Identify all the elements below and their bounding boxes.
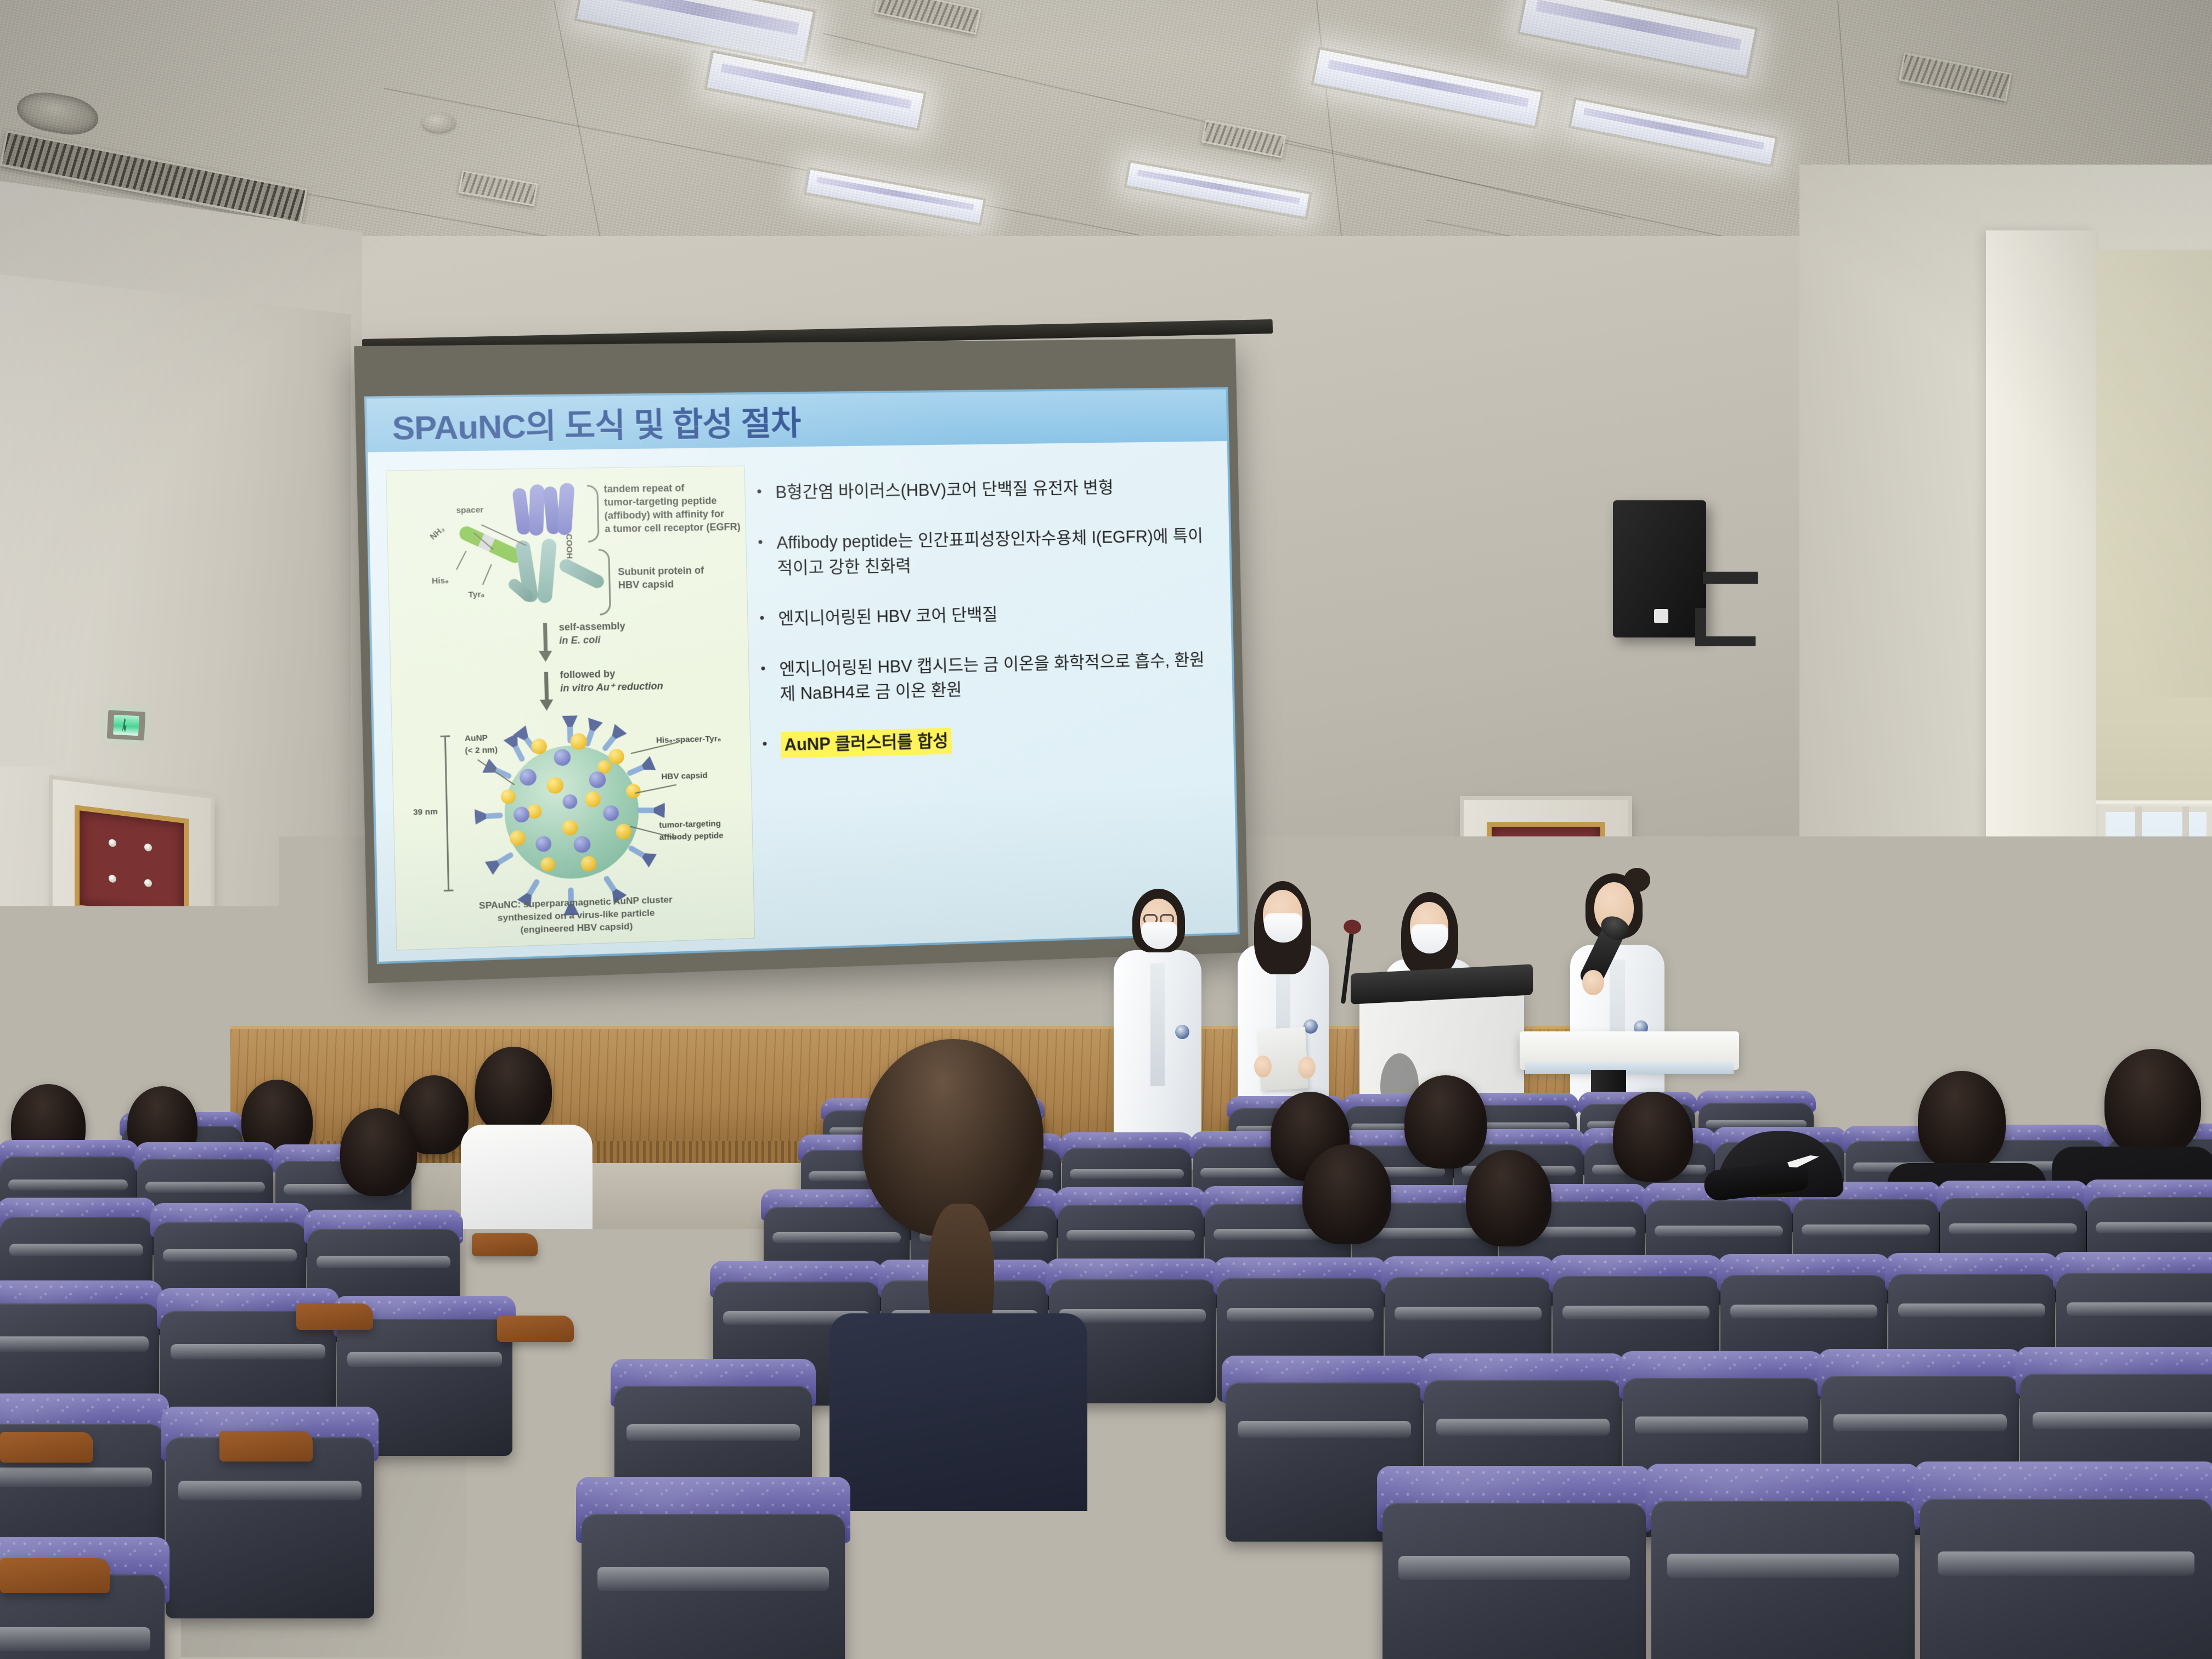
diagram-label-tumor-peptide-1: tumor-targeting <box>659 819 721 831</box>
diagram-label-tandem-repeat-3: (affibody) with affinity for <box>605 508 725 522</box>
ceiling-air-vent <box>458 170 538 206</box>
seat[interactable] <box>614 1602 1339 1659</box>
seat[interactable] <box>1383 1503 1646 1659</box>
diagram-label-his-spacer-tyr: His₆-spacer-Tyr₆ <box>656 734 721 746</box>
speaker-mount-bracket <box>1695 608 1756 646</box>
audience-head <box>1302 1144 1391 1244</box>
audience-shoulders <box>461 1125 592 1229</box>
slide-title: SPAuNC의 도식 및 합성 절차 <box>392 397 801 450</box>
bullet-marker: • <box>759 606 768 631</box>
seat-armrest <box>219 1431 313 1462</box>
seat-armrest <box>296 1304 373 1330</box>
audience-head <box>1466 1150 1551 1246</box>
audience-head <box>1404 1075 1487 1169</box>
door-handle[interactable] <box>160 925 174 962</box>
seat-armrest <box>0 1558 110 1593</box>
door-upper-left[interactable] <box>53 779 211 1045</box>
slide-bullet-list: • B형간염 바이러스(HBV)코어 단백질 유전자 변형 • Affibody… <box>756 460 1223 938</box>
diagram-label-tumor-peptide-2: affibody peptide <box>659 831 724 843</box>
audience-head <box>1613 1092 1693 1182</box>
diagram-label-cooh: COOH <box>563 534 574 559</box>
diagram-label-spacer: spacer <box>456 505 483 516</box>
audience-shoulders <box>830 1313 1087 1511</box>
diagram-label-step2-1: followed by <box>560 668 615 681</box>
diagram-label-aunp-2: (< 2 nm) <box>465 745 498 756</box>
diagram-label-his: His₆ <box>432 576 449 586</box>
diagram-label-hbv-capsid: HBV capsid <box>661 771 708 782</box>
ceiling-light-panel <box>1568 97 1779 167</box>
slide-bullet-item: • 엔지니어링된 HBV 코어 단백질 <box>759 597 1217 631</box>
window <box>2100 806 2212 1081</box>
diagram-arrow-au-reduction <box>544 672 549 701</box>
slide-bullet-item: • B형간염 바이러스(HBV)코어 단백질 유전자 변형 <box>757 473 1215 505</box>
ceiling-light-panel <box>803 167 986 227</box>
diagram-label-step1-2: in E. coli <box>559 634 601 647</box>
diagram-label-tandem-repeat-2: tumor-targeting peptide <box>604 495 717 509</box>
bullet-text: 엔지니어링된 HBV 코어 단백질 <box>778 602 998 631</box>
slide-diagram: spacer NH₂ His₆ Tyr₆ COOH tandem repeat … <box>386 466 754 950</box>
capsid-subunit-helix <box>537 538 557 603</box>
hair-bun <box>1624 868 1650 892</box>
speaker-mount-bracket <box>1703 572 1758 584</box>
bullet-text-highlighted: AuNP 클러스터를 합성 <box>781 728 952 759</box>
seat[interactable] <box>166 1437 374 1618</box>
seat[interactable] <box>1651 1501 1915 1659</box>
bullet-text: 엔지니어링된 HBV 캡시드는 금 이온을 화학적으로 흡수, 환원제 NaBH… <box>779 647 1218 707</box>
seat-armrest <box>497 1316 574 1342</box>
hospital-logo-badge <box>1304 1019 1318 1034</box>
ceiling-light-panel <box>704 50 927 132</box>
hand <box>1254 1056 1272 1077</box>
ceiling-air-vent <box>1201 120 1286 158</box>
ceiling-air-vent <box>1899 52 2012 101</box>
diagram-brace <box>599 549 611 615</box>
seat-armrest <box>0 1432 93 1463</box>
ceiling-air-vent <box>874 0 981 35</box>
hand <box>1298 1057 1316 1079</box>
ceiling-light-panel <box>1124 160 1312 220</box>
diagram-label-step1-1: self-assembly <box>558 620 625 634</box>
bullet-text: B형간염 바이러스(HBV)코어 단백질 유전자 변형 <box>775 475 1114 505</box>
window-roller-blind[interactable] <box>2096 250 2212 804</box>
diagram-caption: SPAuNC: superparamagnetic AuNP cluster s… <box>396 891 754 941</box>
spacer-rod <box>457 524 524 565</box>
audience-head <box>475 1047 552 1133</box>
bullet-marker: • <box>762 732 770 759</box>
seat-armrest <box>472 1233 538 1256</box>
exit-sign-icon <box>107 710 146 740</box>
diagram-scale-bar <box>444 736 449 891</box>
bullet-text: Affibody peptide는 인간표피성장인자수용체 I(EGFR)에 특… <box>776 523 1216 581</box>
bullet-marker: • <box>758 531 766 581</box>
seat[interactable] <box>1920 1499 2212 1659</box>
diagram-label-scale: 39 nm <box>413 807 438 818</box>
diagram-label-step2-2: in vitro Au⁺ reduction <box>560 680 663 695</box>
right-wall-pillar <box>1986 230 2096 1097</box>
diagram-label-tyr: Tyr₆ <box>468 590 484 600</box>
slide-bullet-item: • Affibody peptide는 인간표피성장인자수용체 I(EGFR)에… <box>758 523 1216 582</box>
hand <box>1582 970 1604 995</box>
diagram-label-tandem-repeat-1: tandem repeat of <box>603 482 684 495</box>
lecture-hall-photo: SPAuNC의 도식 및 합성 절차 <box>0 0 2212 1659</box>
presentation-slide: SPAuNC의 도식 및 합성 절차 <box>364 387 1240 964</box>
smoke-detector-icon <box>422 113 455 132</box>
speaker-brand-logo <box>1654 609 1668 623</box>
audience-head <box>2104 1049 2201 1156</box>
diagram-brace <box>587 485 600 543</box>
diagram-label-tandem-repeat-4: a tumor cell receptor (EGFR) <box>605 521 741 535</box>
affibody-helix <box>529 484 545 536</box>
hospital-logo-badge <box>1175 1025 1189 1039</box>
audience-head <box>340 1108 417 1196</box>
bullet-marker: • <box>757 480 765 505</box>
wall-speaker-icon <box>1613 500 1706 637</box>
diagram-label-subunit-1: Subunit protein of <box>618 565 704 578</box>
slide-bullet-item: • 엔지니어링된 HBV 캡시드는 금 이온을 화학적으로 흡수, 환원제 Na… <box>760 647 1218 707</box>
ceiling-speaker-icon <box>14 88 101 140</box>
diagram-label-aunp-1: AuNP <box>465 733 488 744</box>
ceiling-light-panel <box>1517 0 1758 79</box>
bullet-marker: • <box>760 657 769 707</box>
audience-head <box>1918 1071 2006 1170</box>
affibody-helix <box>557 483 575 536</box>
door-panel <box>75 805 188 923</box>
diagram-arrow-self-assembly <box>543 623 548 652</box>
diagram-label-subunit-2: HBV capsid <box>618 579 674 592</box>
ceiling-light-panel <box>574 0 816 66</box>
ceiling-light-panel <box>1311 47 1544 129</box>
projection-screen: SPAuNC의 도식 및 합성 절차 <box>354 338 1249 983</box>
side-table <box>1520 1031 1739 1070</box>
slide-bullet-item-highlighted: • AuNP 클러스터를 합성 <box>762 721 1220 759</box>
diagram-label-nh2: NH₂ <box>428 524 447 543</box>
